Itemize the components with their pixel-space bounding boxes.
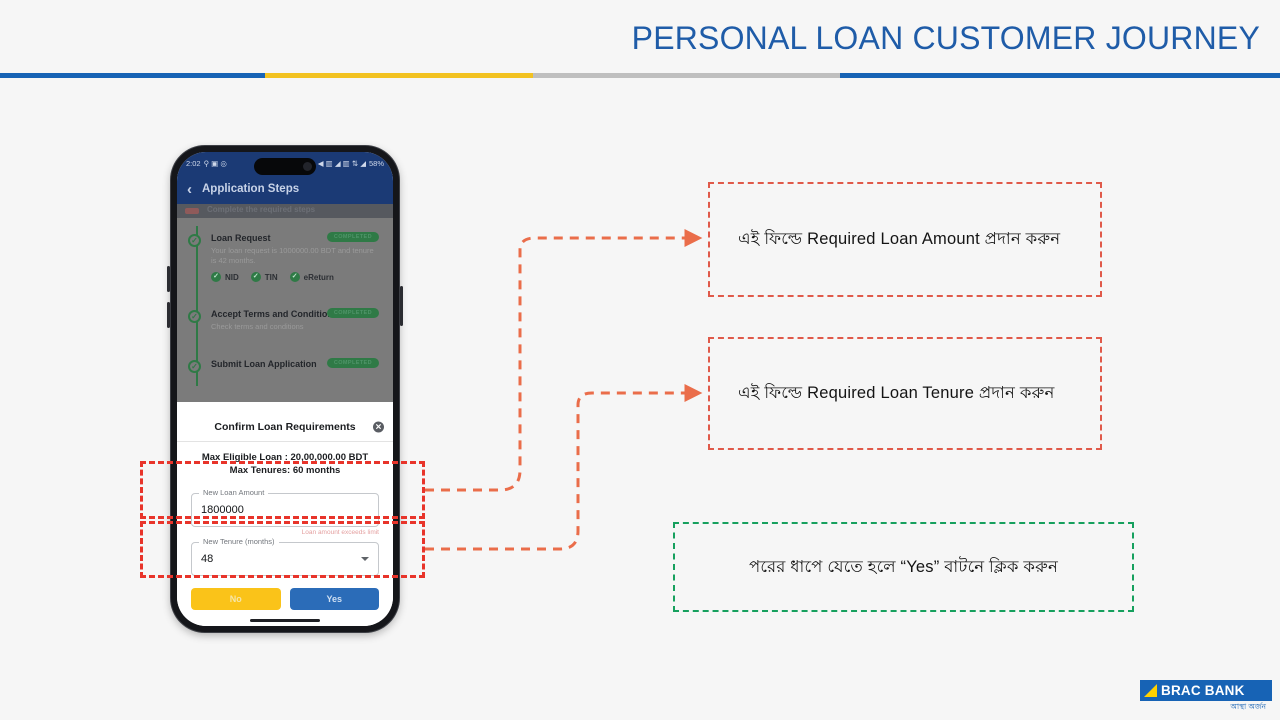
- status-badge: COMPLETED: [327, 308, 379, 318]
- status-badge: COMPLETED: [327, 232, 379, 242]
- brac-mark-icon: [1144, 684, 1157, 697]
- highlight-loan-tenure-field: [140, 521, 425, 578]
- step-description: Your loan request is 1000000.00 BDT and …: [211, 246, 377, 266]
- phone-button-power[interactable]: [400, 286, 403, 326]
- callout-loan-tenure: এই ফিল্ডে Required Loan Tenure প্রদান কর…: [708, 337, 1102, 450]
- front-camera-icon: [303, 162, 312, 171]
- accent-segment-blue-right: [840, 73, 1280, 78]
- callout-loan-amount: এই ফিল্ডে Required Loan Amount প্রদান কর…: [708, 182, 1102, 297]
- ghost-badge: [185, 208, 199, 214]
- doc-chip-label: NID: [225, 273, 239, 282]
- connector-loan-tenure: [425, 393, 697, 549]
- check-icon: ✓: [188, 234, 201, 247]
- callout-loan-amount-text: এই ফিল্ডে Required Loan Amount প্রদান কর…: [710, 225, 1088, 253]
- status-right-icons: ◀ ▥ ◢ ▥ ⇅ ◢: [318, 159, 366, 168]
- page-title: PERSONAL LOAN CUSTOMER JOURNEY: [632, 20, 1260, 57]
- dynamic-island: [254, 158, 316, 175]
- callout-loan-tenure-text: এই ফিল্ডে Required Loan Tenure প্রদান কর…: [710, 379, 1083, 407]
- step-item-accept-terms[interactable]: ✓ COMPLETED Accept Terms and Conditions …: [185, 302, 385, 340]
- doc-chip-label: TIN: [265, 273, 278, 282]
- check-icon: ✓: [251, 272, 261, 282]
- doc-chip-ereturn: ✓ eReturn: [290, 272, 334, 282]
- back-chevron-icon[interactable]: ‹: [187, 182, 192, 197]
- status-left-icons: ⚲ ▣ ◎: [204, 159, 227, 168]
- accent-bar: [0, 73, 1280, 78]
- accent-segment-gray: [533, 73, 840, 78]
- phone-button-volume-up[interactable]: [167, 266, 170, 292]
- doc-chip-tin: ✓ TIN: [251, 272, 278, 282]
- status-bar-right: ◀ ▥ ◢ ▥ ⇅ ◢ 58%: [318, 159, 384, 168]
- slide-canvas: PERSONAL LOAN CUSTOMER JOURNEY: [0, 0, 1280, 720]
- confirm-loan-modal: Confirm Loan Requirements ✕ Max Eligible…: [177, 412, 393, 626]
- callout-yes-button-text: পরের ধাপে যেতে হলে “Yes” বাটনে ক্লিক করু…: [675, 553, 1132, 581]
- app-header-title: Application Steps: [202, 183, 299, 195]
- modal-header: Confirm Loan Requirements ✕: [177, 412, 393, 442]
- application-steps-list: Complete the required steps ✓ COMPLETED …: [177, 204, 393, 402]
- connector-loan-amount: [425, 238, 697, 490]
- document-chips: ✓ NID ✓ TIN ✓ eReturn: [211, 272, 377, 282]
- logo-tagline: আস্থা অর্জন: [1140, 701, 1272, 714]
- brac-bank-logo: BRAC BANK আস্থা অর্জন: [1140, 680, 1272, 714]
- doc-chip-label: eReturn: [304, 273, 334, 282]
- accent-segment-yellow: [265, 73, 533, 78]
- check-icon: ✓: [188, 310, 201, 323]
- app-header: ‹ Application Steps: [177, 174, 393, 204]
- yes-button[interactable]: Yes: [290, 588, 380, 610]
- logo-bar: BRAC BANK: [1140, 680, 1272, 701]
- modal-title: Confirm Loan Requirements: [214, 421, 355, 433]
- no-button[interactable]: No: [191, 588, 281, 610]
- phone-button-volume-down[interactable]: [167, 302, 170, 328]
- check-icon: ✓: [211, 272, 221, 282]
- highlight-loan-amount-field: [140, 461, 425, 519]
- logo-wordmark: BRAC BANK: [1161, 683, 1245, 698]
- doc-chip-nid: ✓ NID: [211, 272, 239, 282]
- steps-partial-item: Complete the required steps: [177, 204, 393, 218]
- status-bar-left: 2:02 ⚲ ▣ ◎: [186, 159, 227, 168]
- steps-partial-label: Complete the required steps: [207, 205, 315, 214]
- step-description: Check terms and conditions: [211, 322, 377, 332]
- callout-yes-button: পরের ধাপে যেতে হলে “Yes” বাটনে ক্লিক করু…: [673, 522, 1134, 612]
- battery-percent: 58%: [369, 159, 384, 168]
- status-badge: COMPLETED: [327, 358, 379, 368]
- check-icon: ✓: [290, 272, 300, 282]
- step-item-loan-request[interactable]: ✓ COMPLETED Loan Request Your loan reque…: [185, 226, 385, 290]
- accent-segment-blue-left: [0, 73, 265, 78]
- close-icon[interactable]: ✕: [373, 421, 384, 432]
- check-icon: ✓: [188, 360, 201, 373]
- home-indicator: [250, 619, 320, 622]
- clock-text: 2:02: [186, 159, 201, 168]
- step-item-submit-application[interactable]: ✓ COMPLETED Submit Loan Application: [185, 352, 385, 377]
